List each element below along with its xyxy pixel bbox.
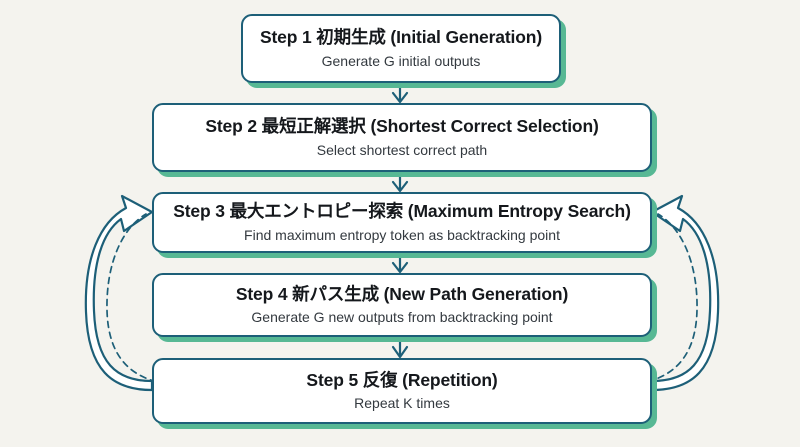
step-box-2[interactable]: Step 2 最短正解選択 (Shortest Correct Selectio…: [152, 103, 652, 172]
step-1-title: Step 1 初期生成 (Initial Generation): [260, 27, 542, 47]
step-box-5[interactable]: Step 5 反復 (Repetition) Repeat K times: [152, 358, 652, 424]
step-4-subtitle: Generate G new outputs from backtracking…: [251, 309, 552, 326]
step-5-subtitle: Repeat K times: [354, 395, 450, 412]
step-3-title: Step 3 最大エントロピー探索 (Maximum Entropy Searc…: [173, 201, 631, 221]
loop-left-block-arrow: [86, 196, 152, 390]
connector-step2-step3: [393, 172, 407, 191]
step-2-title: Step 2 最短正解選択 (Shortest Correct Selectio…: [205, 116, 598, 136]
loop-right-block-arrow: [652, 196, 718, 390]
step-4-title: Step 4 新パス生成 (New Path Generation): [236, 284, 568, 304]
step-box-4[interactable]: Step 4 新パス生成 (New Path Generation) Gener…: [152, 273, 652, 337]
connector-step4-step5: [393, 337, 407, 357]
step-box-3[interactable]: Step 3 最大エントロピー探索 (Maximum Entropy Searc…: [152, 192, 652, 253]
step-2-subtitle: Select shortest correct path: [317, 142, 487, 159]
step-box-1[interactable]: Step 1 初期生成 (Initial Generation) Generat…: [241, 14, 561, 83]
connector-step3-step4: [393, 253, 407, 272]
flowchart-canvas: Step 1 初期生成 (Initial Generation) Generat…: [0, 0, 800, 447]
step-1-subtitle: Generate G initial outputs: [322, 53, 481, 70]
step-3-subtitle: Find maximum entropy token as backtracki…: [244, 227, 560, 244]
connector-step1-step2: [393, 83, 407, 102]
step-5-title: Step 5 反復 (Repetition): [306, 370, 497, 390]
